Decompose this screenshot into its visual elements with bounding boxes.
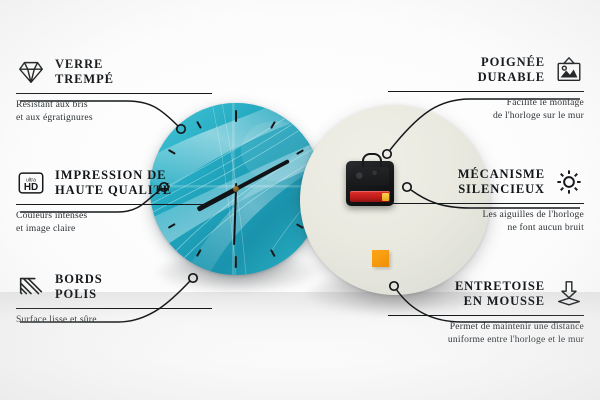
feature-desc-line1: Résistant aux bris bbox=[16, 99, 212, 112]
feature-desc-line2: ne font aucun bruit bbox=[388, 222, 584, 235]
mechanism-housing bbox=[351, 167, 389, 186]
gear-icon bbox=[554, 167, 584, 197]
clock-mechanism bbox=[346, 161, 394, 206]
feature-title-line2: DURABLE bbox=[478, 70, 545, 85]
feature-desc-line1: Couleurs intenses bbox=[16, 210, 212, 223]
feature-desc-line1: Surface lisse et sûre bbox=[16, 314, 212, 327]
feature-description: Les aiguilles de l'horloge ne font aucun… bbox=[388, 209, 584, 234]
feature-description: Surface lisse et sûre bbox=[16, 314, 212, 327]
diamond-icon bbox=[16, 57, 46, 87]
feature-header: BORDS POLIS bbox=[16, 272, 212, 303]
feature-mecanisme-silencieux: MÉCANISME SILENCIEUX Les aiguilles de l'… bbox=[388, 167, 584, 234]
hd-label: HD bbox=[24, 182, 38, 193]
feature-desc-line1: Les aiguilles de l'horloge bbox=[388, 209, 584, 222]
ultra-hd-badge-icon: ultra HD bbox=[16, 168, 46, 198]
feature-title-line1: MÉCANISME bbox=[458, 167, 545, 182]
feature-title-line2: TREMPÉ bbox=[55, 72, 114, 87]
infographic-canvas: VERRE TREMPÉ Résistant aux bris et aux é… bbox=[0, 0, 600, 400]
feature-title-line2: POLIS bbox=[55, 287, 103, 302]
feature-title: BORDS POLIS bbox=[55, 272, 103, 303]
feature-title: ENTRETOISE EN MOUSSE bbox=[455, 279, 545, 310]
feature-title-line2: HAUTE QUALITÉ bbox=[55, 183, 172, 198]
arrow-onto-foam-layer-icon bbox=[554, 279, 584, 309]
feature-title-line1: VERRE bbox=[55, 57, 114, 72]
hanging-picture-frame-icon bbox=[554, 55, 584, 85]
feature-desc-line2: et image claire bbox=[16, 223, 212, 236]
feature-description: Couleurs intenses et image claire bbox=[16, 210, 212, 235]
divider bbox=[16, 308, 212, 310]
feature-description: Permet de maintenir une distance uniform… bbox=[388, 321, 584, 346]
feature-title: POIGNÉE DURABLE bbox=[478, 55, 545, 86]
feature-title: IMPRESSION DE HAUTE QUALITÉ bbox=[55, 168, 172, 199]
feature-header: ultra HD IMPRESSION DE HAUTE QUALITÉ bbox=[16, 168, 212, 199]
feature-desc-line1: Permet de maintenir une distance bbox=[388, 321, 584, 334]
divider bbox=[388, 203, 584, 205]
feature-desc-line2: uniforme entre l'horloge et le mur bbox=[388, 334, 584, 347]
feature-title: MÉCANISME SILENCIEUX bbox=[458, 167, 545, 198]
feature-header: ENTRETOISE EN MOUSSE bbox=[388, 279, 584, 310]
feature-header: POIGNÉE DURABLE bbox=[388, 55, 584, 86]
divider bbox=[388, 315, 584, 317]
feature-bords-polis: BORDS POLIS Surface lisse et sûre bbox=[16, 272, 212, 327]
divider bbox=[16, 204, 212, 206]
feature-description: Résistant aux bris et aux égratignures bbox=[16, 99, 212, 124]
feature-desc-line2: de l'horloge sur le mur bbox=[388, 110, 584, 123]
divider bbox=[388, 91, 584, 93]
feature-title: VERRE TREMPÉ bbox=[55, 57, 114, 88]
feature-entretoise-en-mousse: ENTRETOISE EN MOUSSE Permet de maintenir… bbox=[388, 279, 584, 346]
feature-header: VERRE TREMPÉ bbox=[16, 57, 212, 88]
feature-description: Facilite le montage de l'horloge sur le … bbox=[388, 97, 584, 122]
feature-title-line1: POIGNÉE bbox=[478, 55, 545, 70]
feature-title-line2: SILENCIEUX bbox=[458, 182, 545, 197]
feature-title-line2: EN MOUSSE bbox=[455, 294, 545, 309]
center-cap bbox=[233, 186, 239, 192]
feature-poignee-durable: POIGNÉE DURABLE Facilite le montage de l… bbox=[388, 55, 584, 122]
feature-title-line1: BORDS bbox=[55, 272, 103, 287]
feature-desc-line1: Facilite le montage bbox=[388, 97, 584, 110]
feature-title-line1: ENTRETOISE bbox=[455, 279, 545, 294]
feature-verre-trempe: VERRE TREMPÉ Résistant aux bris et aux é… bbox=[16, 57, 212, 124]
feature-header: MÉCANISME SILENCIEUX bbox=[388, 167, 584, 198]
polished-edges-icon bbox=[16, 272, 46, 302]
foam-spacer bbox=[372, 250, 389, 267]
hanger-loop-icon bbox=[362, 153, 382, 167]
divider bbox=[16, 93, 212, 95]
feature-title-line1: IMPRESSION DE bbox=[55, 168, 172, 183]
feature-impression-haute-qualite: ultra HD IMPRESSION DE HAUTE QUALITÉ Cou… bbox=[16, 168, 212, 235]
battery bbox=[350, 191, 390, 202]
feature-desc-line2: et aux égratignures bbox=[16, 112, 212, 125]
